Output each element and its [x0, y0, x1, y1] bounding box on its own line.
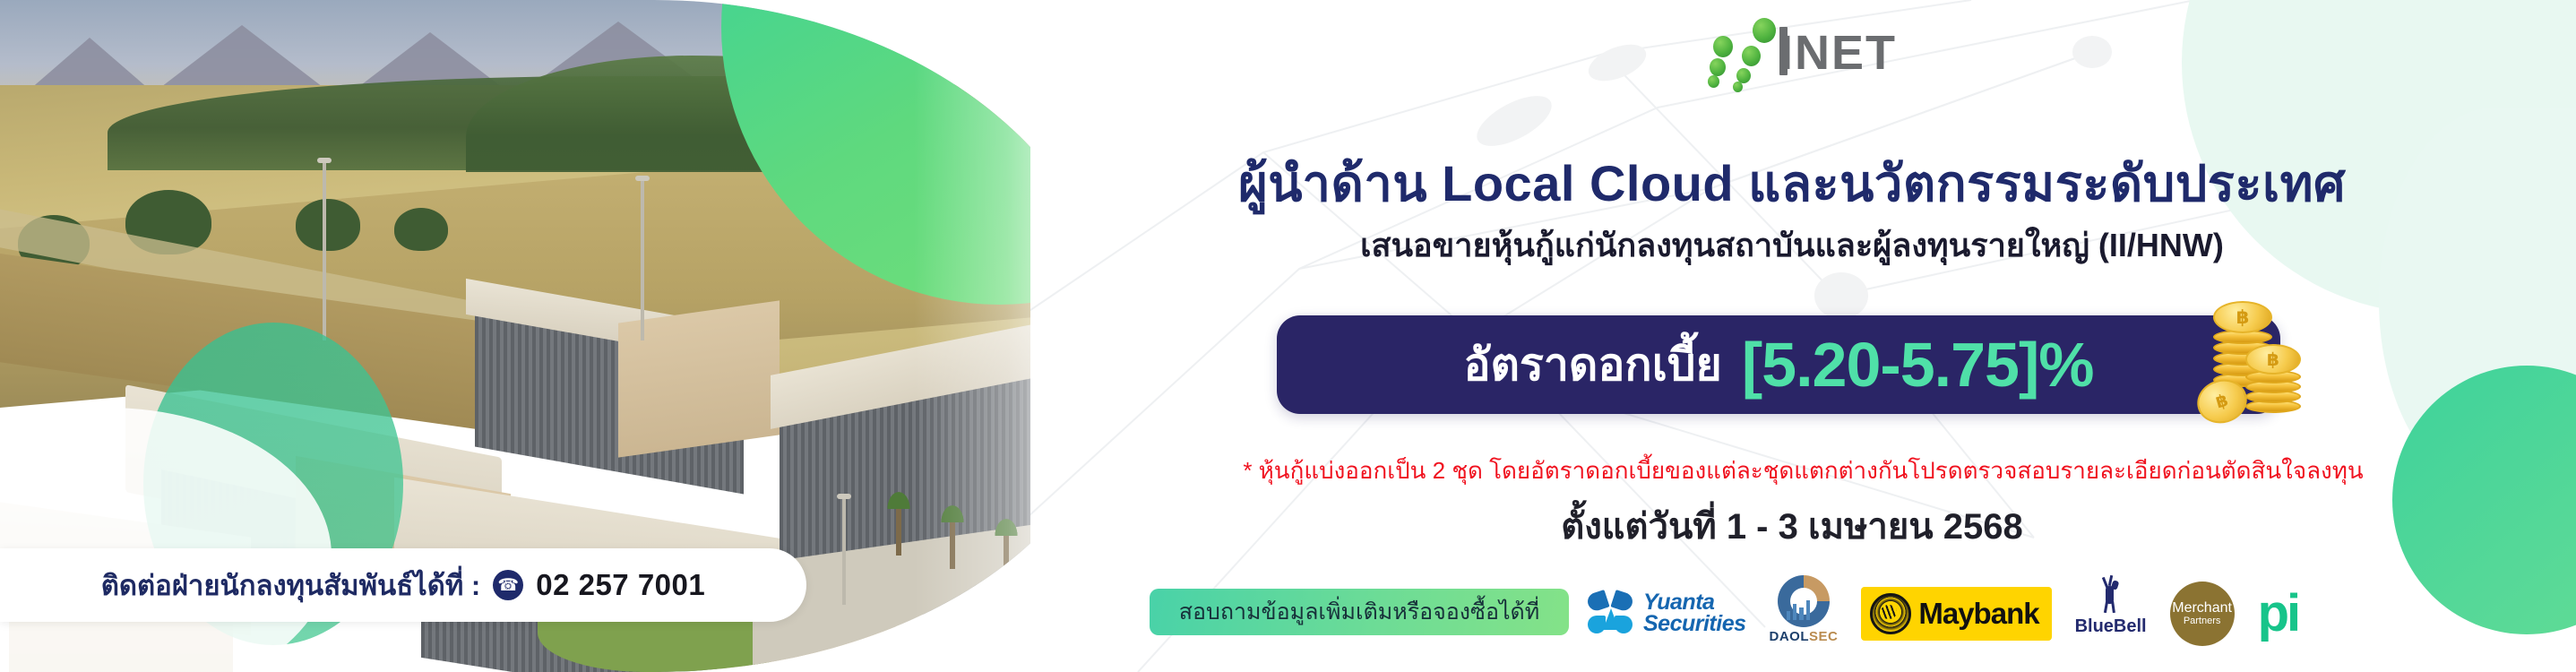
- contact-label: ติดต่อฝ่ายนักลงทุนสัมพันธ์ได้ที่ :: [101, 563, 480, 607]
- promo-banner: INET ผู้นำด้าน Local Cloud และนวัตกรรมระ…: [0, 0, 2576, 672]
- interest-rate-value: [5.20-5.75]%: [1742, 329, 2094, 401]
- light-pole: [323, 161, 326, 340]
- merchant-line1: Merchant: [2172, 601, 2232, 616]
- inet-dots-icon: [1702, 16, 1785, 81]
- partner-logo-merchant-partners[interactable]: Merchant Partners: [2170, 575, 2235, 652]
- headline: ผู้นำด้าน Local Cloud และนวัตกรรมระดับปร…: [1030, 143, 2554, 223]
- disclaimer-text: * หุ้นกู้แบ่งออกเป็น 2 ชุด โดยอัตราดอกเบ…: [1030, 452, 2576, 489]
- merchant-circle-icon: Merchant Partners: [2170, 582, 2235, 646]
- yuanta-line2: Securities: [1643, 614, 1746, 635]
- partner-logo-pi[interactable]: pi: [2258, 575, 2299, 652]
- interest-rate-label: อัตราดอกเบี้ย: [1464, 330, 1722, 401]
- contact-card: ติดต่อฝ่ายนักลงทุนสัมพันธ์ได้ที่ : ☎ 02 …: [0, 548, 806, 622]
- subheadline: เสนอขายหุ้นกู้แก่นักลงทุนสถาบันและผู้ลงท…: [1030, 220, 2554, 271]
- offer-dateline: ตั้งแต่วันที่ 1 - 3 เมษายน 2568: [1030, 497, 2554, 555]
- partner-logo-daol[interactable]: DAOLSEC: [1770, 575, 1839, 652]
- yuanta-wordmark: Yuanta Securities: [1643, 592, 1746, 635]
- yuanta-star-icon: [1586, 589, 1636, 639]
- contact-phone-number[interactable]: 02 257 7001: [536, 568, 705, 602]
- daol-text-sub: SEC: [1809, 629, 1838, 644]
- partner-logo-yuanta[interactable]: Yuanta Securities: [1586, 575, 1746, 652]
- tree: [394, 208, 448, 251]
- daol-pie-chart-icon: [1778, 575, 1830, 627]
- daol-text-main: DAOL: [1770, 629, 1810, 644]
- maybank-wordmark: Maybank: [1918, 597, 2038, 631]
- cta-button[interactable]: สอบถามข้อมูลเพิ่มเติมหรือจองซื้อได้ที่: [1150, 589, 1569, 635]
- interest-rate-box: อัตราดอกเบี้ย [5.20-5.75]%: [1277, 315, 2280, 414]
- maybank-tiger-icon: [1870, 593, 1911, 634]
- inet-logo-text: INET: [1779, 29, 1897, 77]
- daol-bars-icon: [1787, 600, 1810, 620]
- phone-icon: ☎: [493, 570, 523, 600]
- bluebell-wordmark: BlueBell: [2075, 616, 2147, 637]
- pi-wordmark: pi: [2258, 588, 2299, 640]
- palm-tree: [896, 502, 901, 556]
- merchant-line2: Partners: [2184, 616, 2221, 627]
- daol-wordmark: DAOLSEC: [1770, 629, 1839, 644]
- light-pole: [641, 179, 644, 340]
- gold-coins-icon: ฿ ฿ ฿: [2186, 303, 2321, 428]
- inet-logo: INET: [1702, 16, 1998, 81]
- light-pole: [842, 497, 846, 605]
- partner-logo-bluebell[interactable]: BlueBell: [2075, 575, 2147, 652]
- partner-logos: Yuanta Securities DAOLSEC Maybank: [1586, 575, 2509, 652]
- tree: [296, 199, 360, 251]
- bluebell-deer-icon: [2093, 575, 2129, 615]
- partner-logo-maybank[interactable]: Maybank: [1861, 575, 2051, 652]
